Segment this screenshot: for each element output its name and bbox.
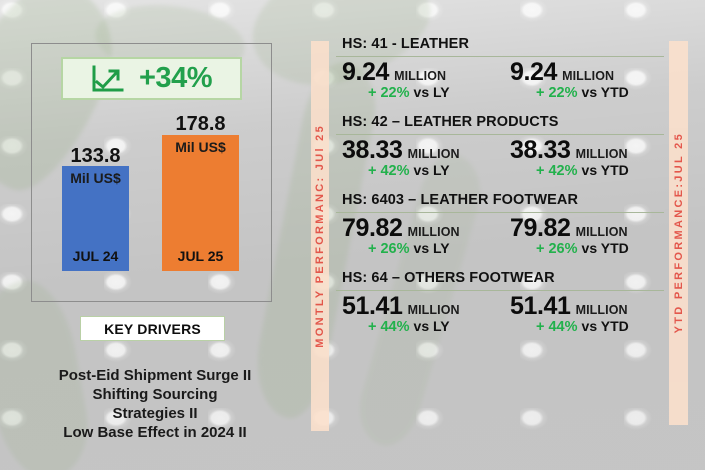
section-divider xyxy=(336,212,664,213)
section-header: HS: 64 – OTHERS FOOTWEAR xyxy=(336,270,664,286)
delta-percent: + 26% xyxy=(368,241,410,257)
metric-unit: MILLION xyxy=(408,147,460,161)
bar-value-jul24: 133.8 xyxy=(62,146,129,166)
delta-note: vs LY xyxy=(414,84,450,100)
metric-unit: MILLION xyxy=(408,225,460,239)
ytd-performance-side-label-text: YTD PERFORMANCE:JUL 25 xyxy=(673,132,685,333)
bar-value-jul25: 178.8 xyxy=(162,114,239,134)
metric-unit: MILLION xyxy=(562,69,614,83)
delta-percent: + 44% xyxy=(368,319,410,335)
metric-row: 9.24 MILLION xyxy=(504,59,664,86)
delta-row: + 42% vs YTD xyxy=(504,162,664,179)
section-hs-41: HS: 41 - LEATHER 9.24 MILLION + 22% vs L… xyxy=(336,36,664,101)
bar-label-jul24: JUL 24 xyxy=(73,249,119,263)
growth-percent: +34% xyxy=(139,64,212,93)
key-drivers-box: KEY DRIVERS xyxy=(80,316,225,341)
metric-value: 51.41 xyxy=(342,293,403,320)
bar-jul24: Mil US$ JUL 24 xyxy=(62,166,129,271)
section-hs-6403: HS: 6403 – LEATHER FOOTWEAR 79.82 MILLIO… xyxy=(336,192,664,257)
ytd-metric-group: 9.24 MILLION + 22% vs YTD xyxy=(504,59,664,101)
metric-value: 9.24 xyxy=(510,59,557,86)
delta-percent: + 42% xyxy=(368,163,410,179)
section-divider xyxy=(336,56,664,57)
metric-value: 79.82 xyxy=(510,215,571,242)
monthly-metric-group: 9.24 MILLION + 22% vs LY xyxy=(336,59,496,101)
metric-row: 9.24 MILLION xyxy=(336,59,496,86)
delta-note: vs YTD xyxy=(582,318,629,334)
delta-row: + 22% vs LY xyxy=(336,84,496,101)
sections-list: HS: 41 - LEATHER 9.24 MILLION + 22% vs L… xyxy=(336,36,664,335)
section-columns: 79.82 MILLION + 26% vs LY 79.82 MILLION … xyxy=(336,215,664,257)
delta-note: vs LY xyxy=(414,162,450,178)
delta-row: + 22% vs YTD xyxy=(504,84,664,101)
bar-unit-jul24: Mil US$ xyxy=(70,171,121,185)
metric-unit: MILLION xyxy=(394,69,446,83)
metric-row: 38.33 MILLION xyxy=(504,137,664,164)
metric-row: 79.82 MILLION xyxy=(336,215,496,242)
metric-row: 51.41 MILLION xyxy=(336,293,496,320)
delta-note: vs YTD xyxy=(582,84,629,100)
growth-badge: +34% xyxy=(61,57,242,100)
monthly-performance-side-label-text: MONTLY PERFORMANC: JUl 25 xyxy=(314,124,326,348)
delta-percent: + 22% xyxy=(368,85,410,101)
section-columns: 51.41 MILLION + 44% vs LY 51.41 MILLION … xyxy=(336,293,664,335)
metric-row: 51.41 MILLION xyxy=(504,293,664,320)
section-header: HS: 6403 – LEATHER FOOTWEAR xyxy=(336,192,664,208)
key-driver-item: Shifting Sourcing xyxy=(20,385,290,404)
section-columns: 9.24 MILLION + 22% vs LY 9.24 MILLION + … xyxy=(336,59,664,101)
delta-percent: + 26% xyxy=(536,241,578,257)
metric-row: 79.82 MILLION xyxy=(504,215,664,242)
key-driver-item: Post-Eid Shipment Surge II xyxy=(20,366,290,385)
section-header: HS: 42 – LEATHER PRODUCTS xyxy=(336,114,664,130)
metric-value: 38.33 xyxy=(342,137,403,164)
ytd-performance-side-label: YTD PERFORMANCE:JUL 25 xyxy=(669,41,688,425)
infographic-canvas: +34% 133.8 Mil US$ JUL 24 178.8 Mil US$ … xyxy=(0,0,705,470)
delta-note: vs YTD xyxy=(582,240,629,256)
monthly-metric-group: 38.33 MILLION + 42% vs LY xyxy=(336,137,496,179)
delta-note: vs LY xyxy=(414,240,450,256)
ytd-metric-group: 79.82 MILLION + 26% vs YTD xyxy=(504,215,664,257)
delta-row: + 44% vs YTD xyxy=(504,318,664,335)
monthly-performance-side-label: MONTLY PERFORMANC: JUl 25 xyxy=(311,41,329,431)
delta-note: vs YTD xyxy=(582,162,629,178)
metric-value: 79.82 xyxy=(342,215,403,242)
key-driver-item: Low Base Effect in 2024 II xyxy=(20,423,290,442)
metric-unit: MILLION xyxy=(576,147,628,161)
bar-label-jul25: JUL 25 xyxy=(178,249,224,263)
metric-value: 9.24 xyxy=(342,59,389,86)
key-driver-item: Strategies II xyxy=(20,404,290,423)
section-hs-64: HS: 64 – OTHERS FOOTWEAR 51.41 MILLION +… xyxy=(336,270,664,335)
section-divider xyxy=(336,134,664,135)
bar-jul25: Mil US$ JUL 25 xyxy=(162,135,239,271)
bar-unit-jul25: Mil US$ xyxy=(175,140,226,154)
delta-row: + 26% vs YTD xyxy=(504,240,664,257)
section-hs-42: HS: 42 – LEATHER PRODUCTS 38.33 MILLION … xyxy=(336,114,664,179)
delta-note: vs LY xyxy=(414,318,450,334)
delta-percent: + 22% xyxy=(536,85,578,101)
section-columns: 38.33 MILLION + 42% vs LY 38.33 MILLION … xyxy=(336,137,664,179)
delta-percent: + 44% xyxy=(536,319,578,335)
delta-row: + 44% vs LY xyxy=(336,318,496,335)
key-drivers-list: Post-Eid Shipment Surge II Shifting Sour… xyxy=(20,366,290,442)
metric-value: 38.33 xyxy=(510,137,571,164)
ytd-metric-group: 38.33 MILLION + 42% vs YTD xyxy=(504,137,664,179)
key-drivers-title: KEY DRIVERS xyxy=(104,321,201,337)
line-chart-up-icon xyxy=(91,65,125,93)
metric-unit: MILLION xyxy=(408,303,460,317)
ytd-metric-group: 51.41 MILLION + 44% vs YTD xyxy=(504,293,664,335)
section-header: HS: 41 - LEATHER xyxy=(336,36,664,52)
monthly-metric-group: 51.41 MILLION + 44% vs LY xyxy=(336,293,496,335)
delta-percent: + 42% xyxy=(536,163,578,179)
delta-row: + 26% vs LY xyxy=(336,240,496,257)
metric-row: 38.33 MILLION xyxy=(336,137,496,164)
metric-value: 51.41 xyxy=(510,293,571,320)
metric-unit: MILLION xyxy=(576,225,628,239)
monthly-metric-group: 79.82 MILLION + 26% vs LY xyxy=(336,215,496,257)
section-divider xyxy=(336,290,664,291)
metric-unit: MILLION xyxy=(576,303,628,317)
delta-row: + 42% vs LY xyxy=(336,162,496,179)
